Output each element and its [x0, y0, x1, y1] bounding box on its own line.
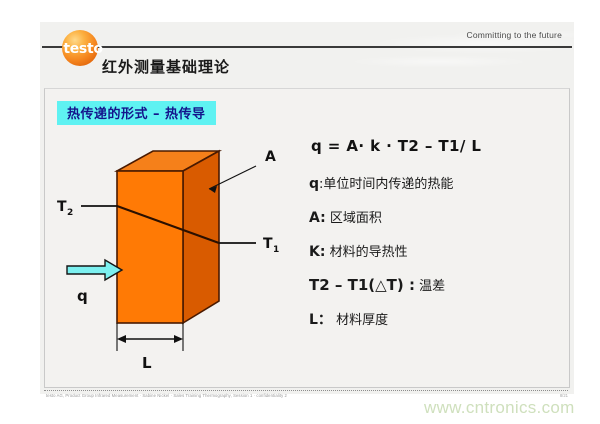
header-divider-rule — [42, 46, 572, 48]
heat-conduction-formula: q = A· k · T2 – T1/ L — [311, 137, 561, 155]
legend-value-l: 材料厚度 — [336, 313, 388, 328]
legend-value-delta-t: 温差 — [419, 279, 445, 294]
legend-item-q: q:单位时间内传递的热能 — [309, 173, 561, 192]
legend-value-a: 区域面积 — [330, 211, 382, 226]
site-watermark: www.cntronics.com — [424, 398, 575, 418]
footer-divider — [44, 390, 568, 392]
dim-arrowhead-right — [174, 335, 183, 343]
dim-arrowhead-left — [117, 335, 126, 343]
label-q: q — [77, 287, 88, 305]
label-t2-subscript: 2 — [67, 208, 73, 218]
label-length: L — [142, 354, 152, 372]
logo-wordmark: testo — [58, 41, 108, 57]
brand-tagline: Committing to the future — [466, 30, 562, 40]
legend-key-a: A: — [309, 210, 326, 226]
slide-content-box: 热传递的形式 – 热传导 A T 2 — [44, 88, 570, 388]
label-t1: T — [263, 236, 273, 252]
label-area: A — [265, 149, 276, 165]
label-t2: T — [57, 199, 67, 215]
formula-legend-panel: q = A· k · T2 – T1/ L q:单位时间内传递的热能 A: 区域… — [307, 137, 561, 344]
legend-key-l: L： — [309, 312, 332, 328]
legend-item-k: K: 材料的导热性 — [309, 241, 561, 260]
slide-subtitle: 热传递的形式 – 热传导 — [57, 101, 216, 125]
legend-item-delta-t: T2 – T1(△T) : 温差 — [309, 275, 561, 294]
legend-key-k: K: — [309, 244, 325, 260]
slide-canvas: Committing to the future testo 红外测量基础理论 … — [40, 22, 574, 394]
block-front-face — [117, 171, 183, 323]
legend-key-q: q — [309, 176, 319, 192]
heat-flux-arrow-icon — [67, 260, 122, 280]
legend-item-a: A: 区域面积 — [309, 207, 561, 226]
slide-title: 红外测量基础理论 — [102, 56, 230, 77]
testo-logo: testo — [62, 30, 98, 66]
legend-value-k: 材料的导热性 — [330, 245, 408, 260]
heat-conduction-diagram: A T 2 T 1 q L — [53, 133, 303, 378]
footer-credit-text: testo AG, Product Group Infrared Measure… — [46, 393, 287, 398]
legend-item-l: L： 材料厚度 — [309, 309, 561, 329]
legend-key-delta-t: T2 – T1(△T) — [309, 276, 404, 294]
legend-value-q: 单位时间内传递的热能 — [323, 177, 453, 192]
label-t1-subscript: 1 — [273, 245, 279, 255]
legend-sep-delta-t: : — [404, 276, 415, 294]
